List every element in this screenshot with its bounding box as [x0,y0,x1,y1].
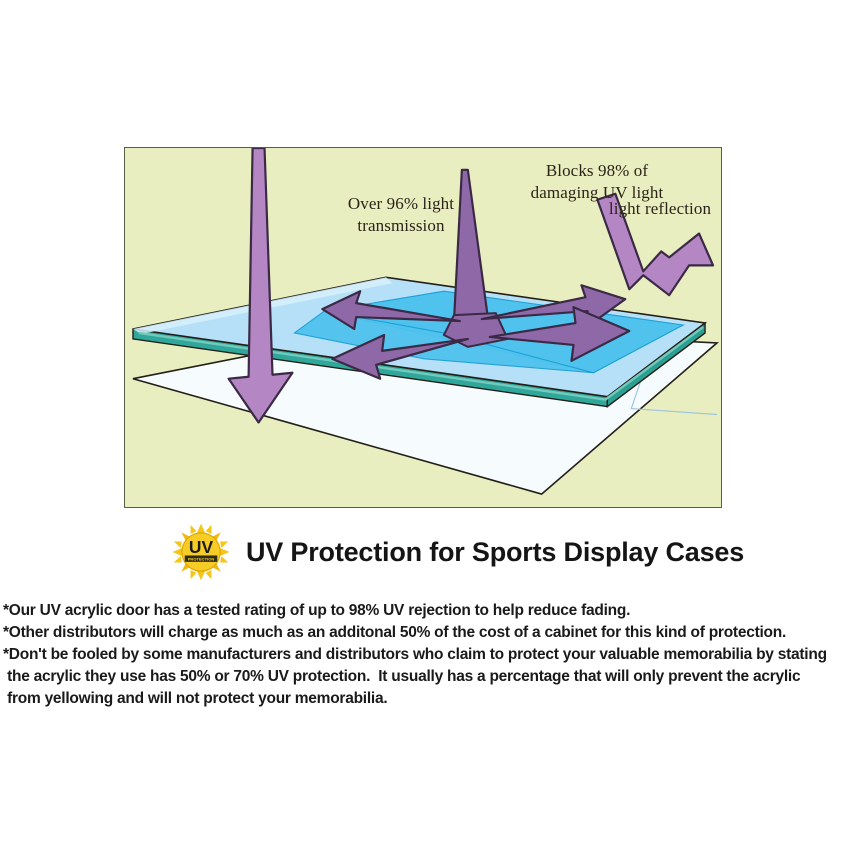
uv-sun-logo: UV PROTECTION [172,523,230,581]
transmission-arrow-down [229,148,293,422]
body-line: *Our UV acrylic door has a tested rating… [3,600,863,622]
label-uv-block: Blocks 98% of damaging UV light [507,160,687,204]
uv-logo-subtext: PROTECTION [188,556,215,561]
body-line: *Don't be fooled by some manufacturers a… [3,644,863,666]
page-title: UV Protection for Sports Display Cases [246,537,744,568]
body-line: from yellowing and will not protect your… [3,688,863,710]
body-line: the acrylic they use has 50% or 70% UV p… [3,666,863,688]
sun-burst-icon: UV PROTECTION [172,523,230,581]
title-row: UV PROTECTION UV Protection for Sports D… [172,521,744,583]
label-light-transmission: Over 96% light transmission [321,193,481,237]
uv-logo-text: UV [189,537,214,557]
label-light-reflection: light reflection [565,198,755,220]
body-line: *Other distributors will charge as much … [3,622,863,644]
body-copy: *Our UV acrylic door has a tested rating… [3,600,863,710]
diagram-panel: Over 96% light transmission Blocks 98% o… [124,147,722,508]
